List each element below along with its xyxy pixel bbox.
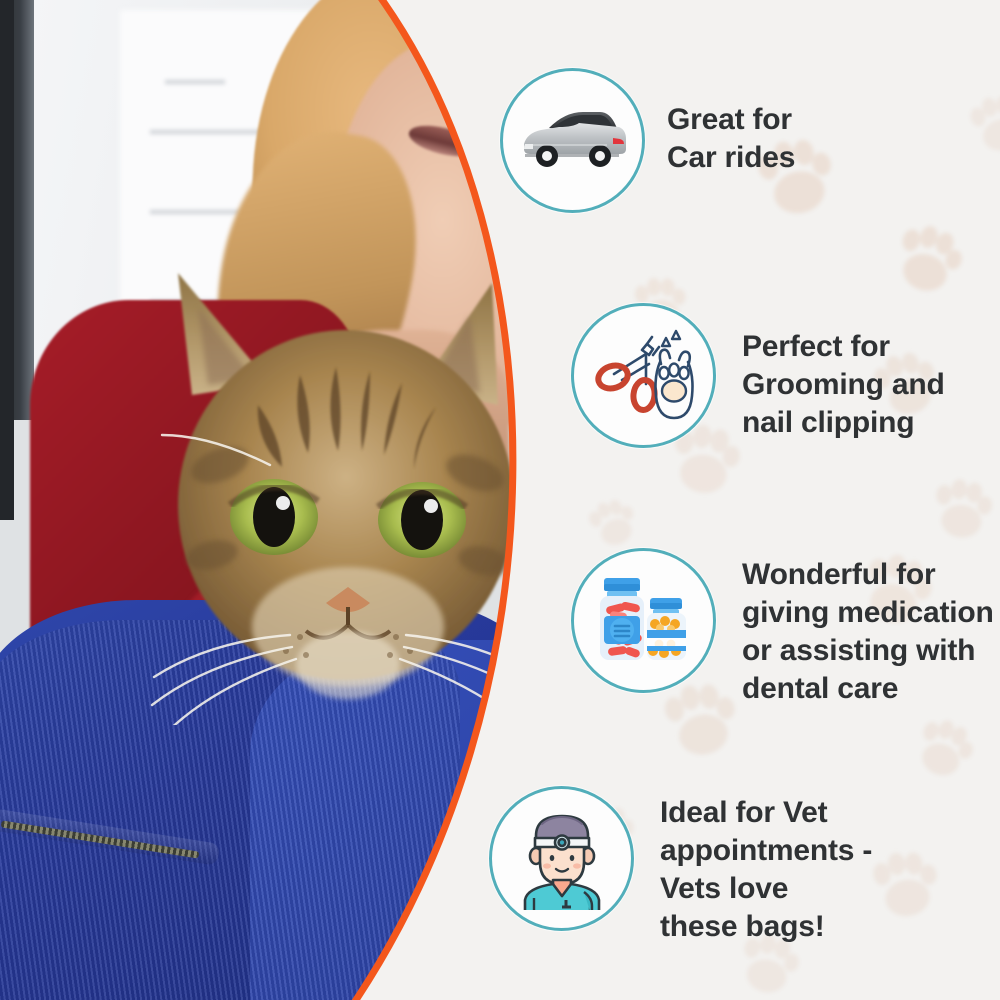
veterinarian-icon xyxy=(512,808,612,910)
feature-icon-circle xyxy=(571,303,716,448)
feature-label: Perfect for Grooming and nail clipping xyxy=(742,328,945,442)
feature-label: Ideal for Vet appointments - Vets love t… xyxy=(660,794,872,946)
feature-vet: Ideal for Vet appointments - Vets love t… xyxy=(489,786,872,946)
pill-bottles-icon xyxy=(590,572,698,670)
feature-medication: Wonderful for giving medication or assis… xyxy=(571,548,994,708)
nail-clippers-paw-icon xyxy=(592,328,696,424)
feature-label: Wonderful for giving medication or assis… xyxy=(742,556,994,708)
feature-grooming: Perfect for Grooming and nail clipping xyxy=(571,303,945,448)
feature-icon-circle xyxy=(489,786,634,931)
cat-photo-subject xyxy=(150,255,550,725)
car-icon xyxy=(519,104,627,178)
feature-icon-circle xyxy=(571,548,716,693)
feature-icon-circle xyxy=(500,68,645,213)
feature-car-rides: Great for Car rides xyxy=(500,68,795,213)
feature-label: Great for Car rides xyxy=(667,101,795,177)
infographic-canvas: Great for Car rides xyxy=(0,0,1000,1000)
